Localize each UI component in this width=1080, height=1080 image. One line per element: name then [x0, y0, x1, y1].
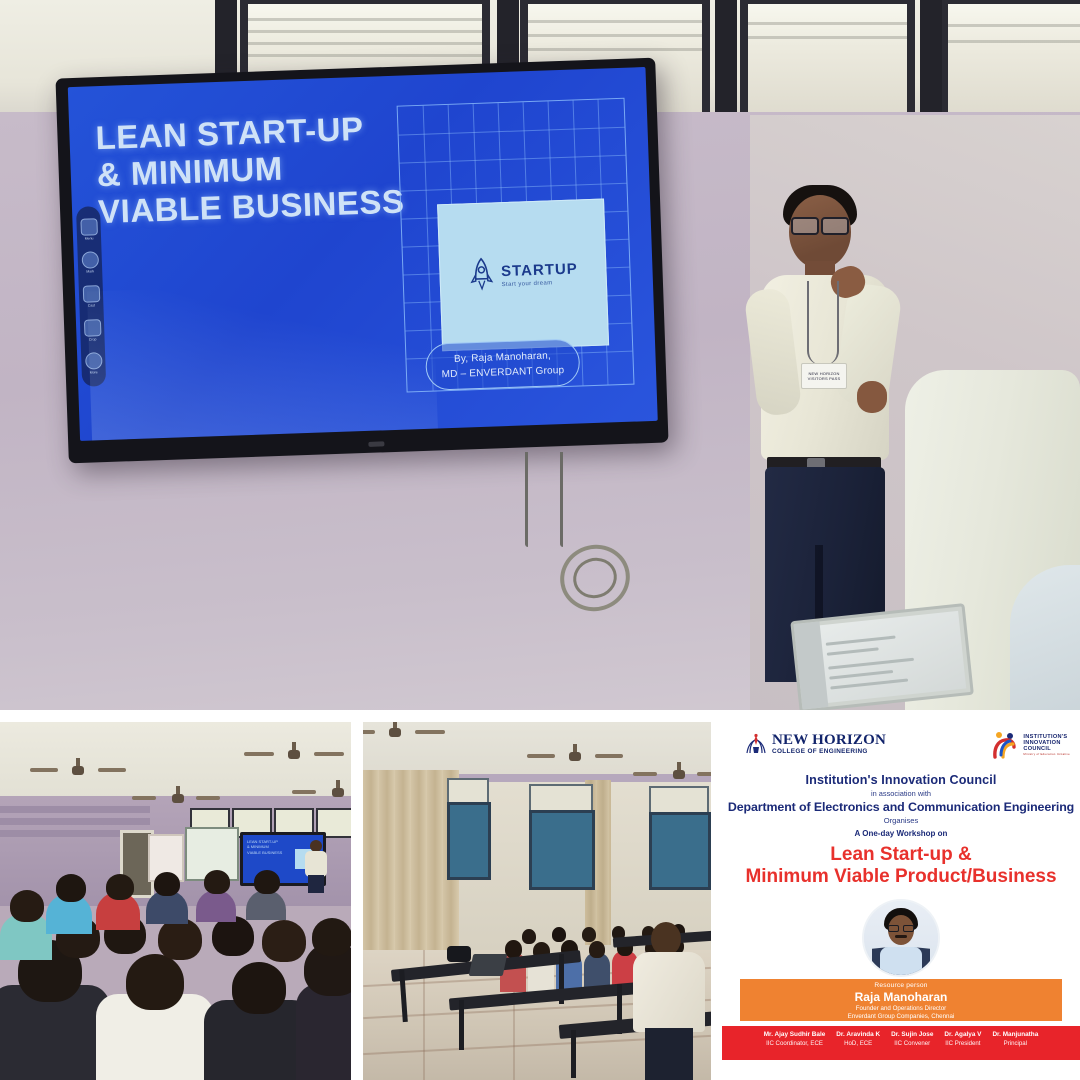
menu-icon[interactable]: Menu [80, 218, 98, 241]
resource-person-name: Raja Manoharan [740, 990, 1062, 1004]
poster-organises: Organises [722, 816, 1080, 825]
poster-department: Department of Electronics and Communicat… [722, 800, 1080, 814]
window-header [447, 778, 489, 804]
iic-subtitle: Ministry of Education Initiative [1023, 753, 1070, 756]
resource-person-band: Resource person Raja Manoharan Founder a… [740, 979, 1062, 1021]
poster-footer-bar: Mr. Ajay Sudhir Bale IIC Coordinator, EC… [722, 1026, 1080, 1060]
screen-glare [86, 280, 438, 441]
poster-heading: Institution's Innovation Council [722, 773, 1080, 787]
footer-person: Mr. Ajay Sudhir Bale IIC Coordinator, EC… [764, 1031, 826, 1047]
presentation-slide: LEAN START-UP & MINIMUM VIABLE BUSINESS [68, 67, 658, 441]
iic-logo-icon [993, 731, 1019, 759]
ceiling-fan-icon [268, 750, 322, 756]
footer-person: Dr. Aravinda K HoD, ECE [836, 1031, 880, 1047]
poster-workshop-line: A One-day Workshop on [722, 829, 1080, 838]
ceiling-fan-icon [549, 752, 603, 758]
display-cable [560, 452, 563, 547]
ceiling-fan-icon [152, 794, 206, 800]
new-horizon-emblem-icon [744, 733, 768, 755]
startup-tagline: Start your dream [501, 279, 578, 288]
ceiling-fan-icon [369, 728, 423, 734]
startup-card: STARTUP Start your dream [437, 199, 609, 352]
poster-title-line1: Lean Start-up & [722, 844, 1080, 866]
backpack [447, 946, 471, 962]
resource-person-role-1: Founder and Operations Director [740, 1005, 1062, 1012]
college-subtitle: COLLEGE OF ENGINEERING [772, 749, 886, 755]
event-poster: NEW HORIZON COLLEGE OF ENGINEERING INSTI… [722, 715, 1080, 1080]
window-mullion [715, 0, 737, 125]
footer-person: Dr. Agalya V IIC President [944, 1031, 981, 1047]
footer-person: Dr. Manjunatha Principal [992, 1031, 1038, 1047]
laptop [790, 603, 974, 710]
eyeglasses-icon [791, 217, 849, 231]
event-photo-collage: LEAN START-UP & MINIMUM VIABLE BUSINESS [0, 0, 1080, 1080]
classroom-benches-photo [363, 722, 711, 1080]
poster-logos: NEW HORIZON COLLEGE OF ENGINEERING INSTI… [722, 729, 1080, 769]
curtain [363, 770, 459, 960]
footer-person: Dr. Sujin Jose IIC Convener [891, 1031, 933, 1047]
resource-person-role-2: Enverdant Group Companies, Chennai [740, 1013, 1062, 1020]
display-indicator [368, 441, 384, 447]
window-pane [948, 4, 1080, 112]
ceiling-fan-icon [653, 770, 707, 776]
speaker-hand [857, 381, 887, 413]
window-mullion [920, 0, 942, 125]
iic-logo: INSTITUTION'S INNOVATION COUNCIL Ministr… [993, 731, 1070, 759]
standing-observer [633, 922, 705, 1080]
poster-association: in association with [722, 789, 1080, 798]
display-cable [525, 452, 528, 547]
slide-byline: By, Raja Manoharan, MD – ENVERDANT Group [425, 338, 581, 390]
startup-word: STARTUP [501, 261, 578, 279]
poster-title-line2: Minimum Viable Product/Business [722, 866, 1080, 888]
college-name: NEW HORIZON [772, 733, 886, 748]
poster-text-block: Institution's Innovation Council in asso… [722, 773, 1080, 889]
top-event-photo: LEAN START-UP & MINIMUM VIABLE BUSINESS [0, 0, 1080, 710]
laptop-on-bench [469, 954, 508, 976]
mark-pen-icon[interactable]: Mark [81, 252, 99, 275]
resource-person-portrait [864, 901, 938, 975]
iic-line1: INSTITUTION'S [1023, 734, 1070, 740]
rocket-icon [468, 256, 495, 297]
eyeglasses-icon [888, 925, 914, 932]
audience-photo: LEAN START-UP & MINIMUM VIABLE BUSINESS [0, 722, 351, 1080]
window [529, 810, 595, 890]
window-header [529, 784, 593, 812]
ceiling-fan-icon [52, 766, 106, 772]
window [447, 802, 491, 880]
ceiling-fan-icon [312, 788, 351, 794]
visitor-badge: NEW HORIZON VISITORS PASS [801, 363, 847, 389]
new-horizon-logo: NEW HORIZON COLLEGE OF ENGINEERING [744, 733, 886, 755]
slide-title: LEAN START-UP & MINIMUM VIABLE BUSINESS [95, 108, 449, 231]
wall-mounted-display: LEAN START-UP & MINIMUM VIABLE BUSINESS [55, 58, 668, 464]
lanyard [807, 281, 839, 365]
window-pane [748, 4, 907, 112]
seated-audience [0, 865, 351, 1080]
display-slide-text: LEAN START-UP & MINIMUM VIABLE BUSINESS [247, 839, 282, 855]
resource-person-label: Resource person [740, 982, 1062, 989]
window-header [649, 786, 709, 814]
window [649, 812, 711, 890]
laptop-screen [790, 603, 974, 710]
